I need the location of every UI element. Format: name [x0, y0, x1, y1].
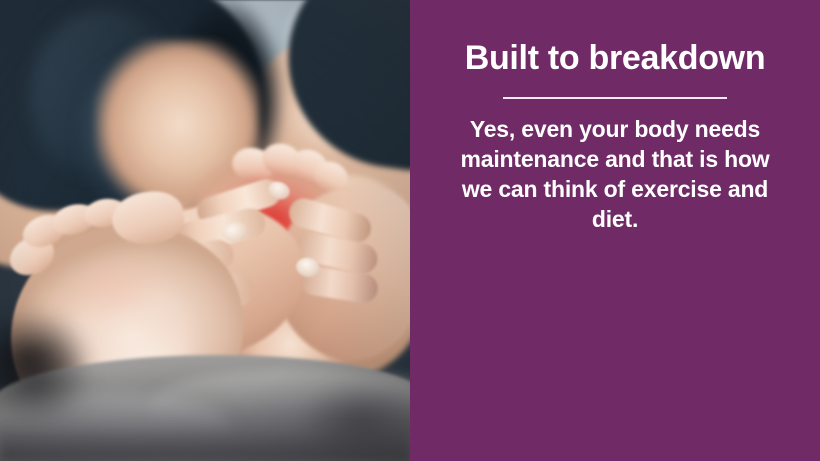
sole-arch-highlight — [62, 304, 228, 425]
far-hand-finger-3 — [298, 264, 380, 305]
dark-torso-top — [150, 0, 300, 250]
blurred-room-background — [0, 0, 410, 215]
fingernail-3 — [294, 255, 322, 279]
photo-vignette — [0, 0, 410, 461]
message-panel: Built to breakdown Yes, even your body n… — [410, 0, 820, 461]
left-leg-highlight — [10, 85, 170, 175]
right-shin — [255, 169, 410, 385]
shirt-fold-highlight-a — [30, 10, 180, 180]
title-divider — [503, 97, 727, 99]
bed-sheet-fold-a — [150, 368, 410, 418]
near-hand-finger-2 — [145, 272, 255, 312]
ankle-heel — [227, 276, 356, 419]
bottom-shadow — [0, 425, 410, 461]
held-foot-toe-1 — [229, 143, 278, 186]
navy-shirt-left-sleeve — [0, 0, 271, 220]
torso-shadow-strap — [179, 129, 227, 341]
right-leg — [213, 24, 410, 297]
body-text: Yes, even your body needs maintenance an… — [455, 115, 775, 235]
fingernail-2 — [209, 275, 236, 297]
sole-toe-2 — [18, 209, 70, 253]
held-foot — [152, 136, 383, 380]
page-title: Built to breakdown — [445, 38, 785, 79]
sofa-shadow-left — [0, 95, 160, 245]
left-leg — [0, 35, 255, 284]
far-hand-finger-2 — [294, 229, 381, 277]
right-knee-highlight — [268, 60, 398, 170]
pain-highlight-core — [222, 186, 312, 266]
bed-sheet-shadow-right — [300, 380, 410, 461]
left-foot-sole — [0, 201, 266, 461]
navy-shirt-right-sleeve — [274, 0, 410, 177]
left-knee — [95, 40, 260, 215]
sole-ball-shading — [31, 234, 195, 346]
shirt-fold-highlight-b — [85, 60, 205, 210]
fingernail-1 — [220, 220, 250, 245]
sole-toe-3 — [49, 199, 99, 239]
sole-toe-1 — [3, 229, 61, 282]
sofa-shadow-right — [330, 100, 410, 230]
fingernail-4 — [266, 179, 292, 202]
bed-sheet — [0, 355, 410, 461]
bed-sheet-shadow-left — [0, 330, 110, 430]
sole-big-toe — [109, 187, 188, 249]
near-hand — [103, 182, 322, 377]
near-hand-finger-4 — [194, 175, 284, 228]
held-foot-toe-2 — [258, 139, 306, 182]
slide-canvas: Built to breakdown Yes, even your body n… — [0, 0, 820, 461]
foot-pain-photo — [0, 0, 410, 461]
sole-toe-4 — [82, 196, 128, 231]
bed-sheet-fold-b — [0, 392, 230, 438]
near-hand-finger-3 — [166, 205, 268, 256]
far-hand — [259, 171, 410, 373]
pain-highlight-glow — [178, 140, 368, 325]
held-foot-toe-4 — [309, 156, 353, 198]
dark-corner-shadow — [0, 300, 110, 420]
near-hand-finger-1 — [128, 238, 235, 283]
held-foot-toe-3 — [285, 144, 332, 188]
far-hand-finger-1 — [286, 195, 375, 246]
